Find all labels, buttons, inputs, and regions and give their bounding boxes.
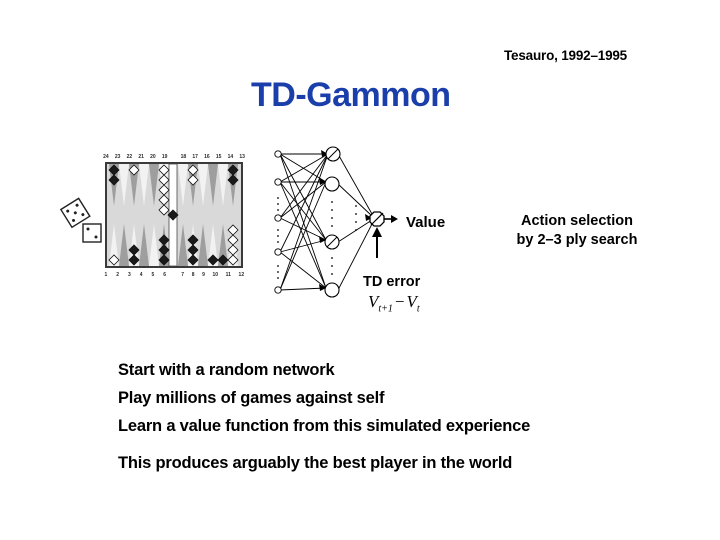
point-number: 6 bbox=[163, 271, 166, 279]
point-number: 10 bbox=[212, 271, 218, 279]
point-number: 9 bbox=[202, 271, 205, 279]
point-number: 22 bbox=[127, 153, 133, 161]
bullet-line: Start with a random network bbox=[118, 356, 678, 384]
output-arrow-icon bbox=[384, 215, 398, 223]
point-number: 3 bbox=[128, 271, 131, 279]
point-number: 19 bbox=[162, 153, 168, 161]
formula-minus-operator: − bbox=[393, 292, 407, 311]
connection-arrowheads bbox=[319, 150, 372, 291]
point-number: 2 bbox=[116, 271, 119, 279]
bullet-line: Play millions of games against self bbox=[118, 384, 678, 412]
board-bottom-point-numbers: 1 2 3 4 5 6 7 8 9 10 11 12 bbox=[100, 270, 248, 280]
point-number: 20 bbox=[150, 153, 156, 161]
board-points-and-checkers bbox=[107, 164, 241, 266]
attribution-text: Tesauro, 1992–1995 bbox=[504, 48, 627, 63]
point-number: 12 bbox=[239, 271, 245, 279]
board-bar-gap bbox=[171, 270, 178, 280]
point-number: 7 bbox=[181, 271, 184, 279]
action-selection-line1: Action selection bbox=[489, 212, 665, 231]
point-number: 24 bbox=[103, 153, 109, 161]
point-number: 8 bbox=[192, 271, 195, 279]
formula-v-next: V bbox=[368, 292, 378, 311]
point-number: 16 bbox=[204, 153, 210, 161]
conclusion-text: This produces arguably the best player i… bbox=[118, 449, 678, 477]
point-number: 23 bbox=[115, 153, 121, 161]
bullet-list: Start with a random network Play million… bbox=[118, 356, 678, 440]
backgammon-board: 24 23 22 21 20 19 18 17 16 15 14 13 bbox=[100, 152, 248, 280]
point-number: 5 bbox=[151, 271, 154, 279]
output-node bbox=[370, 212, 384, 226]
action-selection-line2: by 2–3 ply search bbox=[489, 231, 665, 250]
input-layer-ellipsis-icon bbox=[277, 197, 279, 279]
slide-canvas: Tesauro, 1992–1995 TD-Gammon 24 bbox=[0, 0, 720, 540]
td-error-arrow-icon bbox=[372, 227, 382, 258]
point-number: 1 bbox=[104, 271, 107, 279]
action-selection-label: Action selection by 2–3 ply search bbox=[489, 212, 665, 250]
board-bar-gap bbox=[171, 152, 178, 162]
point-number: 14 bbox=[228, 153, 234, 161]
die-upright-icon bbox=[83, 224, 101, 242]
point-number: 15 bbox=[216, 153, 222, 161]
board-frame bbox=[105, 162, 243, 268]
network-connections bbox=[280, 154, 372, 290]
point-number: 4 bbox=[140, 271, 143, 279]
td-error-formula: Vt+1−Vt bbox=[368, 292, 420, 314]
formula-sub-tplus1: t+1 bbox=[378, 303, 393, 314]
value-label: Value bbox=[406, 214, 445, 231]
point-number: 11 bbox=[226, 271, 231, 279]
point-number: 21 bbox=[138, 153, 144, 161]
die-rotated-icon bbox=[61, 198, 90, 227]
bullet-line: Learn a value function from this simulat… bbox=[118, 412, 678, 440]
formula-sub-t: t bbox=[417, 303, 420, 314]
point-number: 17 bbox=[192, 153, 198, 161]
board-top-point-numbers: 24 23 22 21 20 19 18 17 16 15 14 13 bbox=[100, 152, 248, 162]
formula-v-current: V bbox=[407, 292, 417, 311]
point-number: 13 bbox=[239, 153, 245, 161]
point-number: 18 bbox=[181, 153, 187, 161]
td-error-label: TD error bbox=[363, 274, 420, 290]
page-title: TD-Gammon bbox=[251, 76, 451, 115]
